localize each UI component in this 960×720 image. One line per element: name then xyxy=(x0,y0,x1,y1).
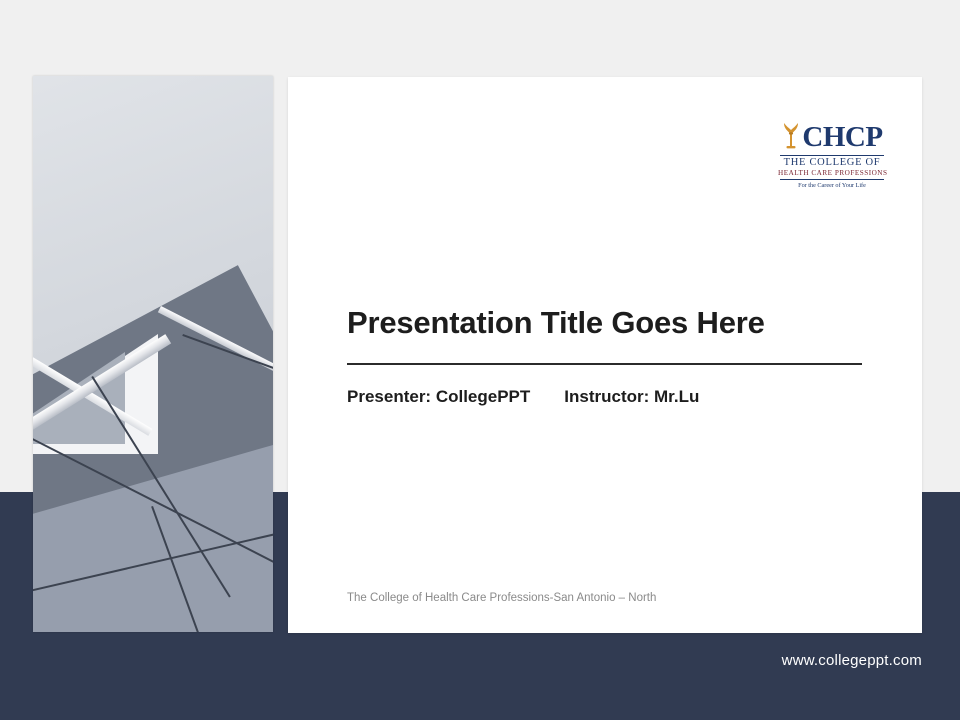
logo-rule-top xyxy=(780,155,884,156)
chcp-logo: CHCP THE COLLEGE OF HEALTH CARE PROFESSI… xyxy=(778,121,886,189)
site-url: www.collegeppt.com xyxy=(782,652,922,669)
logo-top-row: CHCP xyxy=(778,121,886,152)
title-block: Presentation Title Goes Here Presenter: … xyxy=(347,305,867,407)
instructor-label: Instructor: Mr.Lu xyxy=(564,387,699,407)
logo-wordmark: CHCP xyxy=(802,123,882,152)
logo-line-college: THE COLLEGE OF xyxy=(778,158,886,169)
architectural-photo-panel xyxy=(33,76,273,632)
caduceus-y-icon xyxy=(781,121,801,151)
logo-tagline: For the Career of Your Life xyxy=(778,183,886,189)
presenter-label: Presenter: CollegePPT xyxy=(347,387,530,407)
logo-line-professions: HEALTH CARE PROFESSIONS xyxy=(778,170,886,177)
presenter-meta-row: Presenter: CollegePPT Instructor: Mr.Lu xyxy=(347,387,867,407)
logo-rule-bottom xyxy=(780,179,884,180)
title-divider xyxy=(347,363,862,365)
slide-card: CHCP THE COLLEGE OF HEALTH CARE PROFESSI… xyxy=(288,77,922,633)
page-title: Presentation Title Goes Here xyxy=(347,305,867,341)
slide-footer-text: The College of Health Care Professions-S… xyxy=(347,592,656,604)
